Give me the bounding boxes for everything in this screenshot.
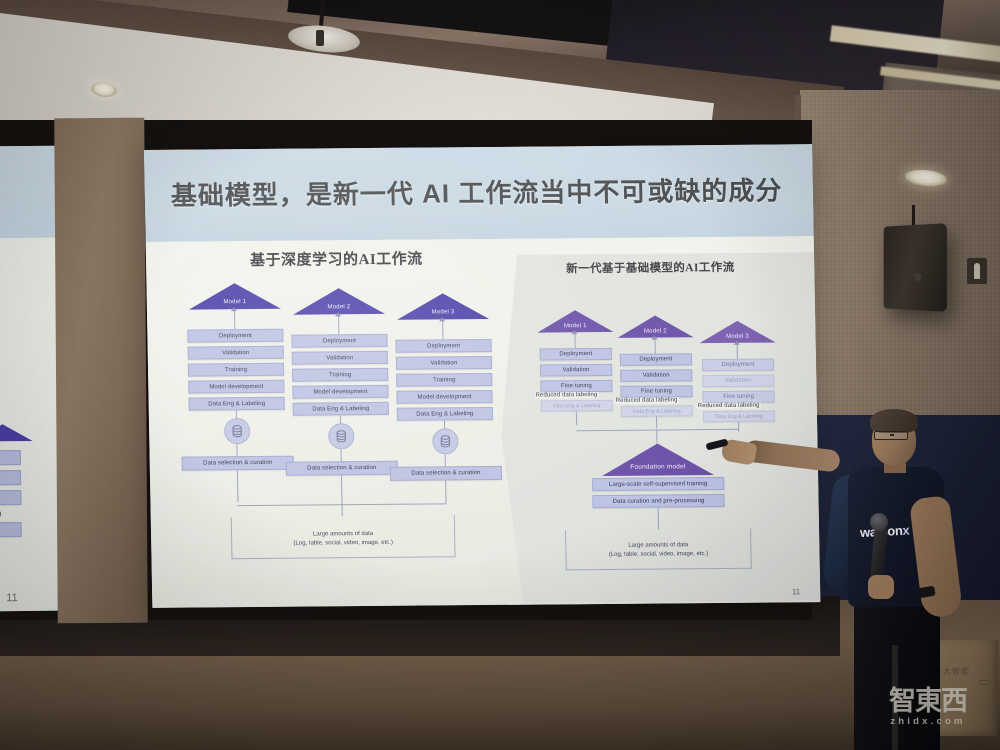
model-triangle: [293, 288, 385, 315]
reduced-labeling-note: Reduced data labeling: [535, 392, 599, 399]
connector: [342, 504, 343, 516]
connector: [442, 319, 443, 339]
model-label: Model 2: [617, 328, 693, 335]
stage-box: Validation: [396, 356, 492, 370]
connector: [656, 417, 657, 429]
secondary-title-band: [0, 146, 57, 239]
stage-box: Training: [188, 363, 284, 377]
database-glyph: [334, 429, 348, 443]
model-label: Model 1: [189, 299, 281, 306]
database-glyph: [438, 434, 452, 448]
arrow-icon: [335, 312, 341, 316]
database-icon: [224, 418, 250, 444]
stage-box: Fine tuning: [703, 390, 775, 403]
arrow-icon: [231, 307, 237, 311]
curation-box: Data selection & curation: [390, 466, 502, 481]
stage-box: Model development: [292, 385, 388, 399]
secondary-page-number: 11: [6, 592, 18, 604]
secondary-stage-box: [0, 490, 21, 506]
stage-box: Data Eng & Labeling: [189, 397, 285, 411]
slide-title-band: 基础模型，是新一代 AI 工作流当中不可或缺的成分: [144, 144, 814, 242]
stage-box: Training: [396, 373, 492, 387]
stage-box: Deployment: [291, 334, 387, 348]
stage-box-faded: Data Eng & Labeling: [703, 410, 775, 422]
curation-box: Data selection & curation: [182, 456, 294, 471]
connector: [738, 422, 739, 432]
stage-box: Training: [292, 368, 388, 382]
connector: [341, 449, 342, 461]
reduced-labeling-note: Reduced data labeling: [697, 403, 761, 410]
room-scene: 天大智能 ng 11 基础模型，是新一代 AI 工作流当中不可或缺的成分 基于深…: [0, 0, 1000, 750]
shirt-brand-suffix: x: [902, 523, 910, 538]
model-label: Model 3: [397, 309, 489, 316]
stage-box: Validation: [292, 351, 388, 365]
stage-box-faded: Data Eng & Labeling: [621, 405, 693, 417]
stage-box: Deployment: [396, 339, 492, 353]
restroom-sign-icon: [967, 258, 987, 284]
connector: [236, 444, 237, 456]
stage-box: Validation: [188, 346, 284, 360]
database-glyph: [230, 424, 244, 438]
data-source-line1: Large amounts of data: [628, 542, 688, 549]
glasses-icon: [874, 431, 908, 440]
foundation-model-triangle: [601, 443, 714, 476]
arrow-icon: [651, 336, 657, 340]
model-label: Model 3: [699, 333, 775, 340]
stage-box: Validation: [620, 369, 692, 382]
slide-body: 基于深度学习的AI工作流 Model 1 Deployment Validati…: [146, 236, 821, 608]
wall-loudspeaker: [884, 223, 947, 312]
foundation-stage-box: Data curation and pre-processing: [592, 494, 724, 508]
data-source-label: Large amounts of data (Log, table, socia…: [231, 529, 455, 550]
page-title: 基础模型，是新一代 AI 工作流当中不可或缺的成分: [170, 170, 791, 212]
data-source-line2: (Log, table, social, video, image, etc.): [293, 540, 393, 547]
connector: [237, 470, 239, 502]
database-icon: [328, 423, 354, 449]
stage-box: Deployment: [187, 329, 283, 343]
secondary-partial-label: ng: [0, 510, 1, 517]
watermark-domain: zhidx.com: [862, 716, 994, 727]
secondary-model-triangle: [0, 424, 33, 442]
data-source-line2: (Log, table, social, video, image, etc.): [609, 551, 709, 558]
microphone-head: [870, 513, 888, 531]
watermark: 智東西 zhidx.com: [862, 688, 994, 742]
connector: [341, 475, 343, 505]
data-source-label: Large amounts of data (Log, table, socia…: [565, 541, 751, 561]
curation-box: Data selection & curation: [286, 461, 398, 476]
stage-box: Validation: [540, 364, 612, 377]
secondary-stage-box: [0, 470, 21, 486]
arrow-icon: [734, 341, 740, 345]
pendant-light-core: [316, 30, 324, 46]
stage-box: Fine tuning: [540, 380, 612, 393]
stage-box: Deployment: [540, 348, 612, 361]
model-label: Model 1: [537, 323, 613, 330]
model-label: Model 2: [293, 304, 385, 311]
stage-box: Data Eng & Labeling: [293, 402, 389, 416]
arrow-icon: [571, 330, 577, 334]
stage-box: Model development: [396, 390, 492, 404]
stage-box: Model development: [188, 380, 284, 394]
secondary-stage-box: [0, 522, 22, 538]
right-panel-heading: 新一代基于基础模型的AI工作流: [566, 259, 735, 276]
arrow-icon: [439, 317, 445, 321]
reduced-labeling-note: Reduced data labeling: [615, 397, 679, 404]
connector: [445, 480, 446, 504]
stage-box-faded: Data Eng & Labeling: [541, 400, 613, 412]
connector: [234, 309, 235, 329]
stage-box: Data Eng & Labeling: [397, 407, 493, 421]
stage-box: Fine tuning: [620, 385, 692, 398]
data-source-line1: Large amounts of data: [313, 531, 373, 538]
watermark-glyphs: 智東西: [862, 686, 994, 716]
stage-box: Deployment: [620, 353, 692, 366]
left-panel-heading: 基于深度学习的AI工作流: [250, 248, 423, 271]
database-icon: [432, 428, 458, 454]
presenter-mic-hand: [868, 575, 894, 599]
connector: [445, 454, 446, 466]
secondary-stage-box: [0, 450, 21, 466]
foundation-stage-box: Large-scale self-supervised training: [592, 477, 724, 491]
room-pillar: [54, 118, 148, 624]
connector: [338, 314, 339, 334]
slide-page-number: 11: [792, 587, 800, 596]
foundation-model-label: Foundation model: [602, 463, 714, 471]
secondary-slide-body: ng: [0, 238, 60, 612]
downlight-icon: [90, 81, 118, 98]
secondary-projection-slide: ng 11: [0, 146, 60, 612]
stage-box: Deployment: [702, 359, 774, 372]
model-triangle: [188, 283, 280, 310]
presenter-hair: [870, 409, 918, 433]
presentation-slide: 基础模型，是新一代 AI 工作流当中不可或缺的成分 基于深度学习的AI工作流 M…: [144, 144, 820, 608]
stage-box: Validation: [702, 374, 774, 387]
model-triangle: [397, 293, 489, 320]
